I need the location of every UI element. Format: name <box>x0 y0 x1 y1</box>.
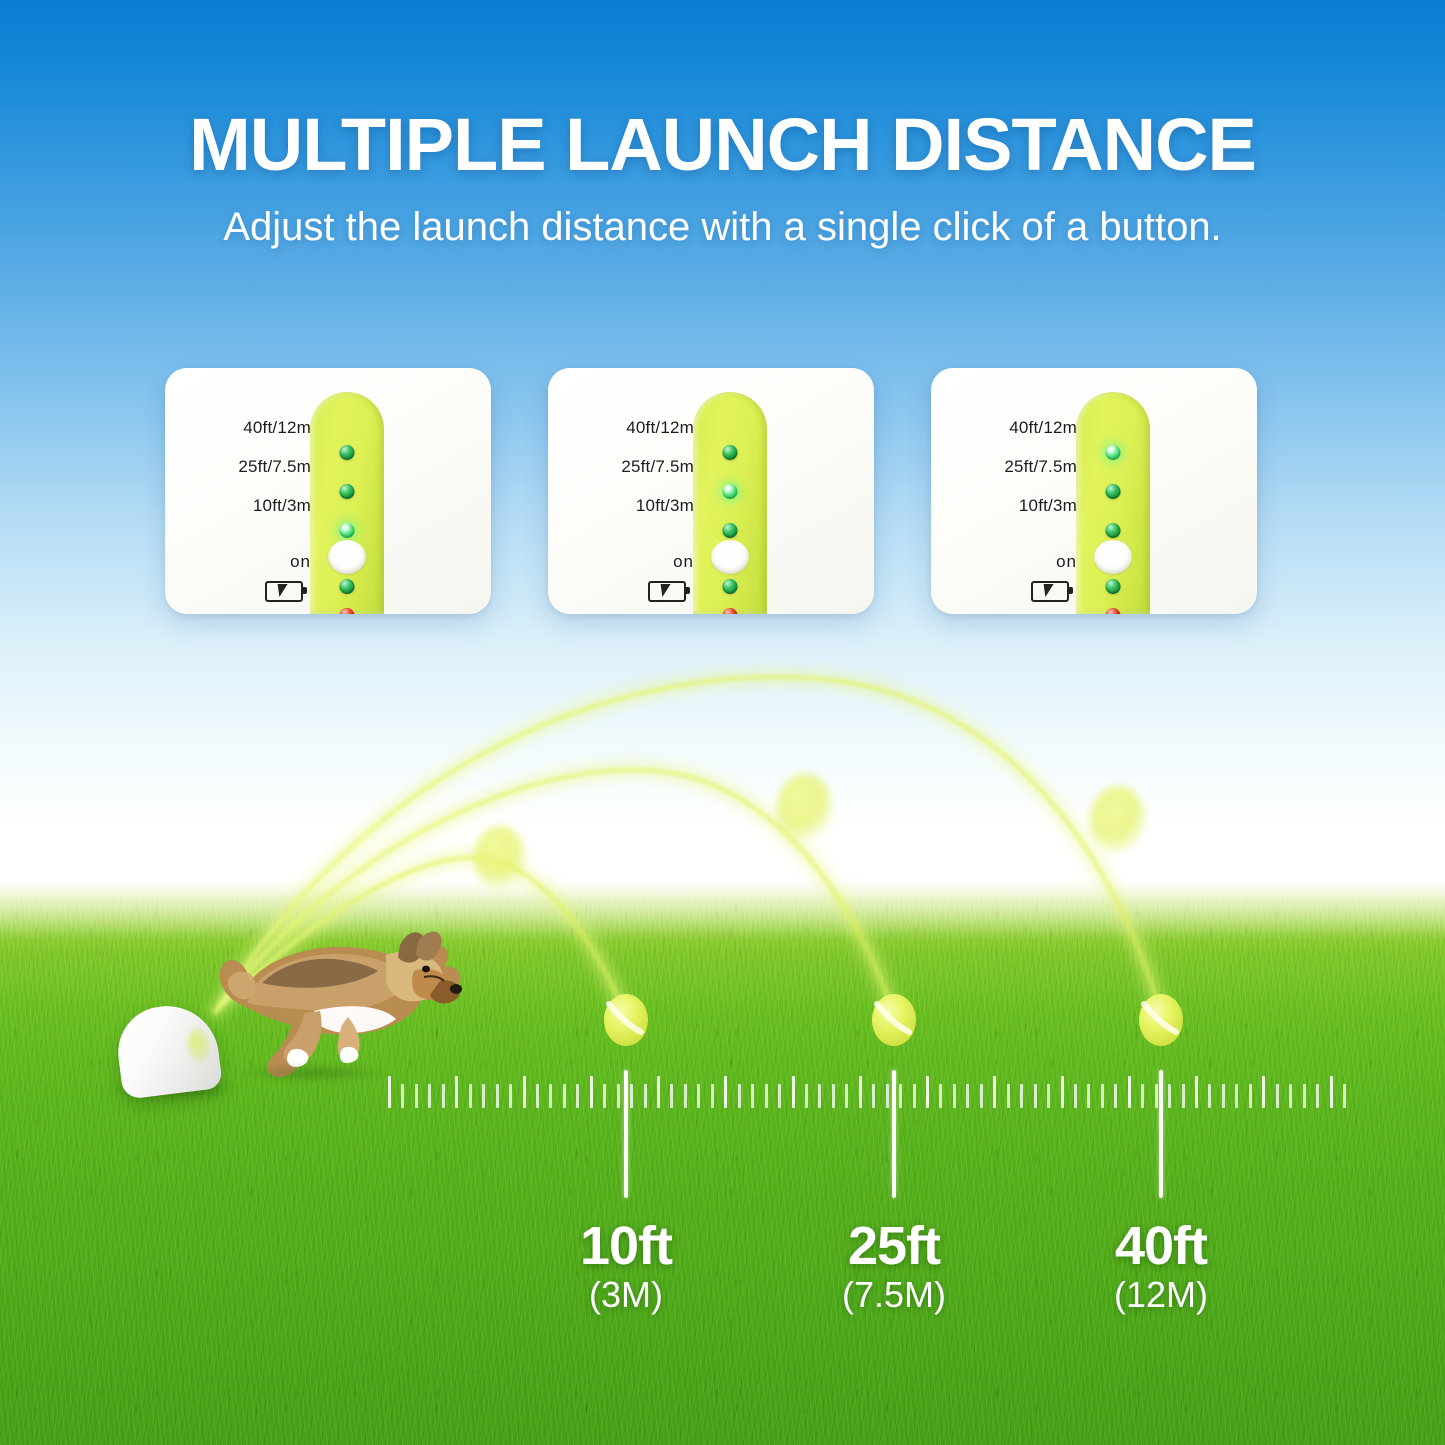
dog-shadow <box>238 1064 388 1082</box>
distance-meters: (7.5M) <box>842 1274 946 1316</box>
ruler-tick <box>939 1084 942 1108</box>
ruler-tick <box>1303 1084 1306 1108</box>
ruler-tick <box>549 1084 552 1108</box>
ruler-tick <box>805 1084 808 1108</box>
ruler-tick <box>1141 1084 1144 1108</box>
ruler-tick <box>751 1084 754 1108</box>
distance-label-25ft: 25ft (7.5M) <box>842 1218 946 1316</box>
ruler-tick <box>899 1084 902 1108</box>
tennis-ball-40ft <box>1139 994 1183 1046</box>
tennis-ball-25ft <box>872 994 916 1046</box>
ruler-tick <box>1155 1084 1158 1108</box>
ruler-tick <box>644 1084 647 1108</box>
ruler-tick <box>415 1084 418 1108</box>
ruler-tick <box>993 1076 996 1108</box>
distance-feet: 10ft <box>580 1218 672 1274</box>
ruler-tick <box>684 1084 687 1108</box>
ruler-tick <box>845 1084 848 1108</box>
ruler-tick <box>657 1076 660 1108</box>
ruler-tick <box>697 1084 700 1108</box>
ruler-tick <box>590 1076 593 1108</box>
ruler-tick <box>913 1084 916 1108</box>
ruler-tick <box>980 1084 983 1108</box>
ruler-tick <box>724 1076 727 1108</box>
ruler-tick <box>1330 1076 1333 1108</box>
ruler-tick <box>872 1084 875 1108</box>
trajectory-layer <box>0 0 1445 1445</box>
tennis-ball-apex-10ft <box>474 826 526 890</box>
ruler-tick <box>1316 1084 1319 1108</box>
ruler-tick <box>1276 1084 1279 1108</box>
distance-feet: 40ft <box>1114 1218 1208 1274</box>
ruler-tick <box>482 1084 485 1108</box>
ruler-tick <box>818 1084 821 1108</box>
distance-label-10ft: 10ft (3M) <box>580 1218 672 1316</box>
ruler-tick <box>1195 1076 1198 1108</box>
ruler-tick <box>1087 1084 1090 1108</box>
ruler-tick <box>1034 1084 1037 1108</box>
ruler-tick <box>886 1084 889 1108</box>
ruler-tick <box>1114 1084 1117 1108</box>
distance-label-40ft: 40ft (12M) <box>1114 1218 1208 1316</box>
ruler-tick <box>926 1076 929 1108</box>
ruler-tick <box>523 1076 526 1108</box>
ruler-tick <box>1168 1084 1171 1108</box>
ruler-tick <box>455 1076 458 1108</box>
ruler-tick <box>576 1084 579 1108</box>
ruler-tick <box>1235 1084 1238 1108</box>
ruler-tick <box>711 1084 714 1108</box>
distance-meters: (3M) <box>580 1274 672 1316</box>
distance-feet: 25ft <box>842 1218 946 1274</box>
ruler-tick <box>1074 1084 1077 1108</box>
ruler-tick <box>536 1084 539 1108</box>
ruler-tick <box>778 1084 781 1108</box>
infographic-canvas: MULTIPLE LAUNCH DISTANCE Adjust the laun… <box>0 0 1445 1445</box>
ruler-tick <box>401 1084 404 1108</box>
ruler-tick <box>469 1084 472 1108</box>
ruler-tick <box>832 1084 835 1108</box>
ruler-tick <box>1343 1084 1346 1108</box>
ruler-tick <box>1249 1084 1252 1108</box>
ruler-tick <box>765 1084 768 1108</box>
ruler-tick <box>1208 1084 1211 1108</box>
ruler-tick <box>966 1084 969 1108</box>
ruler-tick <box>630 1084 633 1108</box>
measuring-tape-ruler <box>388 1070 1356 1108</box>
ruler-tick <box>1222 1084 1225 1108</box>
ruler-tick <box>603 1084 606 1108</box>
ruler-tick <box>509 1084 512 1108</box>
tennis-ball-10ft <box>604 994 648 1046</box>
ruler-tick <box>1182 1084 1185 1108</box>
ruler-marker-25ft <box>892 1070 896 1198</box>
ruler-tick <box>563 1084 566 1108</box>
ruler-tick <box>1020 1084 1023 1108</box>
tennis-ball-apex-25ft <box>777 774 833 842</box>
ruler-tick <box>738 1084 741 1108</box>
ruler-tick <box>1007 1084 1010 1108</box>
landed-balls <box>604 994 1183 1046</box>
ruler-tick <box>388 1076 391 1108</box>
ruler-tick <box>859 1076 862 1108</box>
ruler-tick <box>1128 1076 1131 1108</box>
ruler-tick <box>670 1084 673 1108</box>
ruler-tick <box>442 1084 445 1108</box>
ruler-tick <box>1047 1084 1050 1108</box>
ruler-tick <box>792 1076 795 1108</box>
ruler-tick <box>1101 1084 1104 1108</box>
ruler-tick <box>496 1084 499 1108</box>
distance-meters: (12M) <box>1114 1274 1208 1316</box>
ruler-tick <box>953 1084 956 1108</box>
ruler-tick <box>428 1084 431 1108</box>
ruler-tick <box>617 1084 620 1108</box>
ruler-marker-40ft <box>1159 1070 1163 1198</box>
ruler-tick <box>1061 1076 1064 1108</box>
tennis-ball-apex-40ft <box>1090 786 1146 854</box>
ruler-tick <box>1289 1084 1292 1108</box>
ruler-marker-10ft <box>624 1070 628 1198</box>
ruler-tick <box>1262 1076 1265 1108</box>
